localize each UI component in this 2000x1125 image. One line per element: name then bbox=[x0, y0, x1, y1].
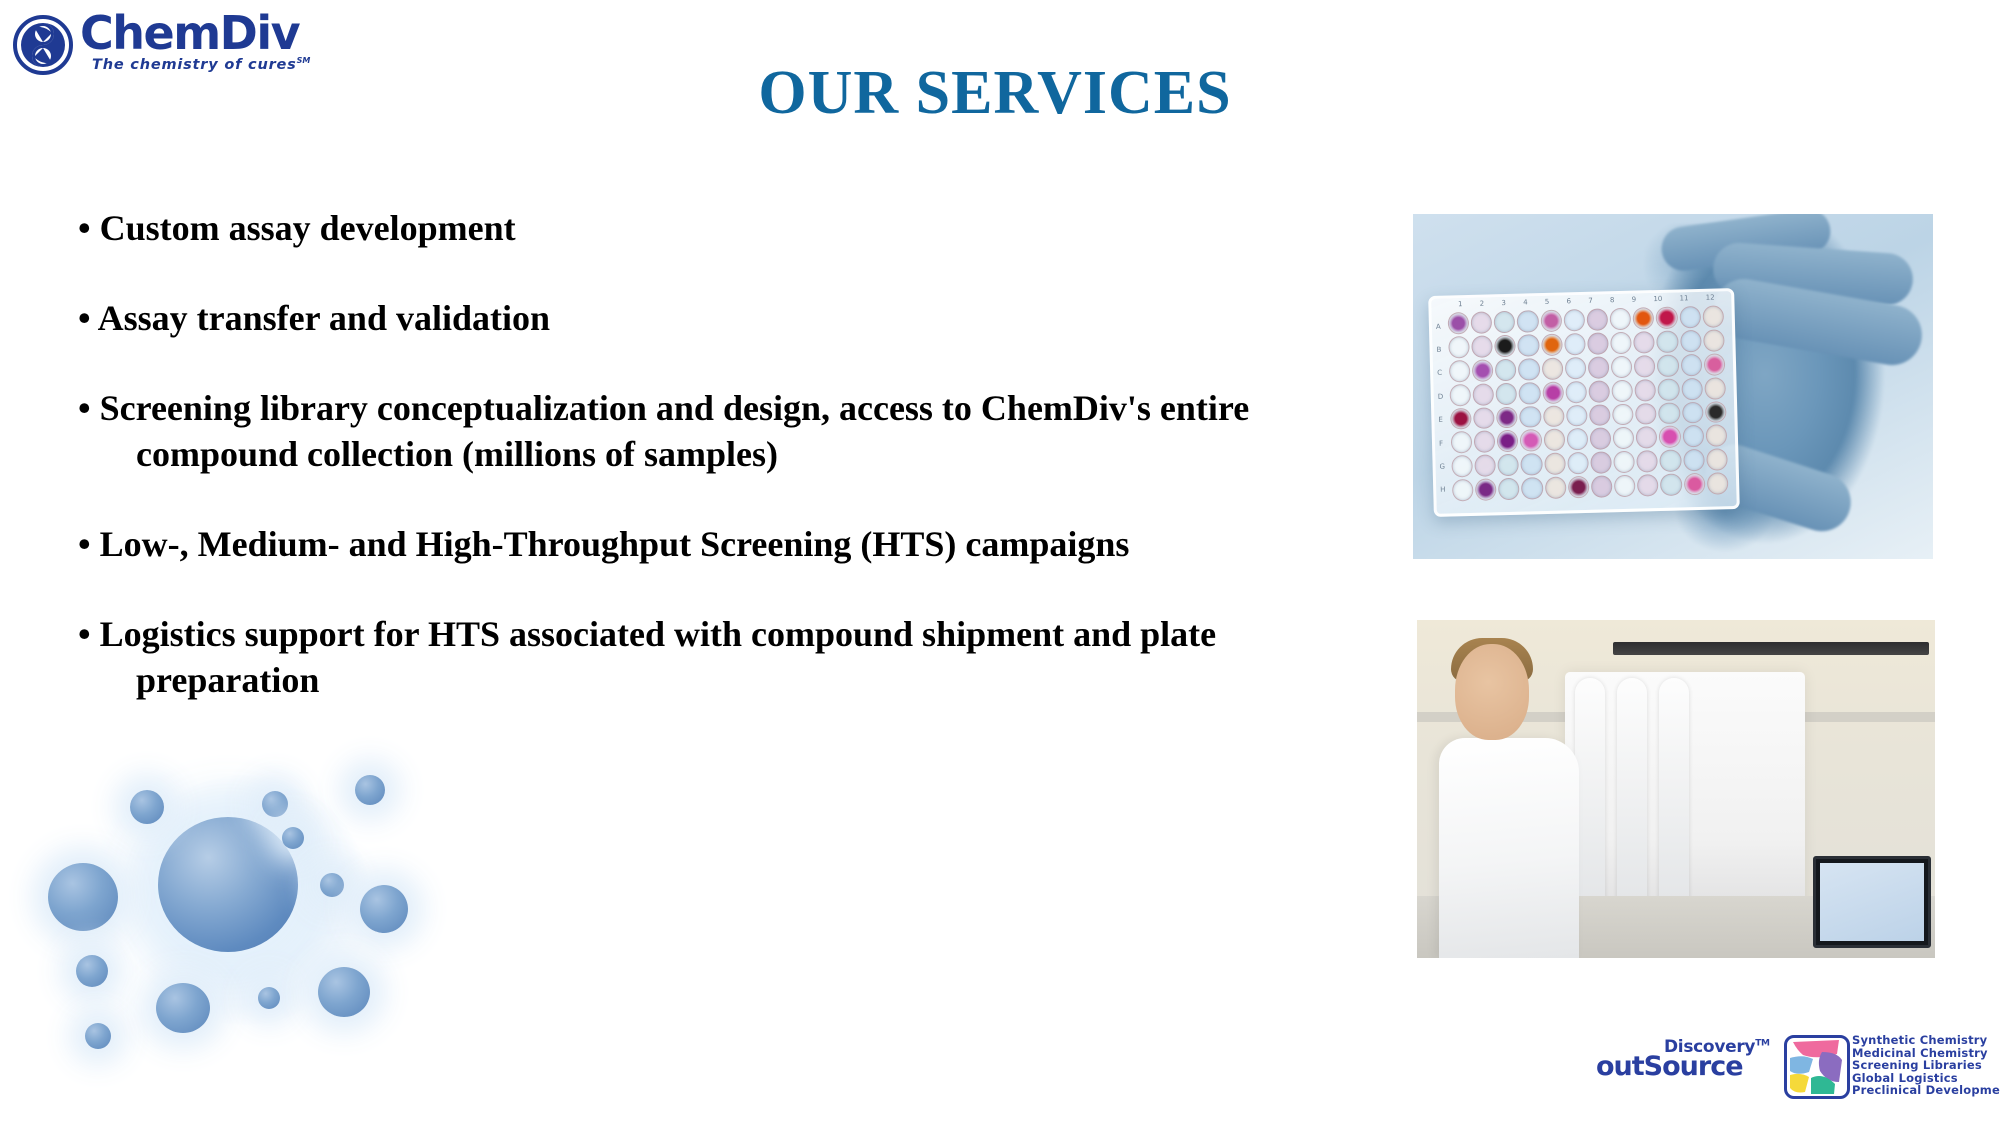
microplate-well bbox=[1634, 355, 1656, 377]
cell-satellite bbox=[48, 863, 118, 931]
microplate-well bbox=[1471, 335, 1493, 357]
microplate-row-label: F bbox=[1439, 439, 1445, 447]
microplate-well bbox=[1704, 353, 1726, 375]
microplate-well bbox=[1542, 381, 1564, 403]
microplate-well bbox=[1541, 333, 1563, 355]
microplate-column-label: 3 bbox=[1501, 299, 1506, 307]
microplate-well bbox=[1610, 332, 1632, 354]
list-item: • Screening library conceptualization an… bbox=[78, 385, 1328, 477]
partner-service-item: Preclinical Development bbox=[1852, 1084, 2000, 1097]
microplate-body: 123456789101112 ABCDEFGH bbox=[1428, 288, 1740, 517]
microplate-well bbox=[1587, 308, 1609, 330]
page-title: OUR SERVICES bbox=[0, 58, 2000, 129]
microplate-well bbox=[1705, 401, 1727, 423]
microplate-well bbox=[1498, 454, 1520, 476]
cell-satellite bbox=[130, 790, 164, 824]
microplate-column-label: 12 bbox=[1706, 294, 1715, 302]
microplate-column-label: 11 bbox=[1679, 294, 1688, 302]
microplate-well bbox=[1589, 404, 1611, 426]
microplate-well bbox=[1449, 360, 1471, 382]
cell-cluster-graphic bbox=[30, 755, 450, 1115]
microplate-well bbox=[1518, 334, 1540, 356]
microplate-photo: 123456789101112 ABCDEFGH bbox=[1413, 214, 1933, 559]
microplate-well bbox=[1637, 450, 1659, 472]
microplate-column-label: 10 bbox=[1653, 295, 1662, 303]
microplate-well bbox=[1637, 474, 1659, 496]
discovery-tm: TM bbox=[1755, 1038, 1770, 1048]
microplate-well bbox=[1565, 357, 1587, 379]
microplate-well bbox=[1684, 473, 1706, 495]
microplate-well bbox=[1519, 382, 1541, 404]
microplate-well bbox=[1475, 478, 1497, 500]
partner-service-item: Synthetic Chemistry bbox=[1852, 1034, 2000, 1047]
outsource-word: outSource bbox=[1596, 1051, 1743, 1082]
microplate-well bbox=[1612, 379, 1634, 401]
microplate-well bbox=[1520, 430, 1542, 452]
slide-canvas: ChemDiv The chemistry of curesSM OUR SER… bbox=[0, 0, 2000, 1125]
microplate-column-label: 9 bbox=[1632, 296, 1637, 304]
microplate-well bbox=[1703, 329, 1725, 351]
list-item: • Assay transfer and validation bbox=[78, 295, 1328, 341]
microplate-well bbox=[1473, 383, 1495, 405]
microplate-well bbox=[1705, 425, 1727, 447]
microplate-well bbox=[1564, 333, 1586, 355]
list-item-label: Assay transfer and validation bbox=[98, 298, 550, 338]
microplate-well bbox=[1683, 449, 1705, 471]
microplate-well bbox=[1588, 380, 1610, 402]
microplate-well bbox=[1633, 331, 1655, 353]
mosaic-shapes bbox=[1787, 1038, 1847, 1096]
microplate-row-label: E bbox=[1438, 416, 1444, 424]
microplate-well bbox=[1704, 377, 1726, 399]
microplate-well bbox=[1521, 477, 1543, 499]
list-item: • Logistics support for HTS associated w… bbox=[78, 611, 1328, 703]
microplate-well bbox=[1657, 330, 1679, 352]
microplate-well bbox=[1590, 452, 1612, 474]
chemdiv-wordmark: ChemDiv bbox=[80, 10, 299, 56]
microplate-row-label: C bbox=[1437, 369, 1443, 377]
cell-satellite bbox=[355, 775, 385, 805]
plate-rack bbox=[1575, 678, 1605, 910]
microplate-well bbox=[1591, 475, 1613, 497]
microplate-well bbox=[1495, 335, 1517, 357]
bullet-marker: • bbox=[78, 524, 91, 564]
cell-satellite bbox=[85, 1023, 111, 1049]
microplate-well bbox=[1452, 479, 1474, 501]
microplate-column-label: 2 bbox=[1480, 300, 1485, 308]
microplate-well bbox=[1702, 305, 1724, 327]
scientist-lab-coat bbox=[1439, 738, 1579, 958]
microplate-well bbox=[1590, 428, 1612, 450]
microplate-well bbox=[1660, 450, 1682, 472]
microplate-well bbox=[1682, 425, 1704, 447]
microplate-column-label: 8 bbox=[1610, 296, 1615, 304]
discovery-outsource-logo[interactable]: DiscoveryTM outSource Synthetic Chemistr… bbox=[1596, 1035, 1996, 1105]
lab-gantry bbox=[1613, 642, 1929, 655]
microplate-well bbox=[1636, 426, 1658, 448]
bullet-marker: • bbox=[78, 298, 91, 338]
microplate-row-label: H bbox=[1440, 486, 1446, 494]
microplate-well bbox=[1543, 429, 1565, 451]
microplate-well bbox=[1680, 330, 1702, 352]
microplate-well bbox=[1706, 449, 1728, 471]
microplate-well-grid bbox=[1448, 305, 1729, 501]
microplate-well bbox=[1681, 378, 1703, 400]
microplate-well bbox=[1449, 384, 1471, 406]
microplate-well bbox=[1471, 311, 1493, 333]
services-bullet-list: • Custom assay development • Assay trans… bbox=[78, 205, 1328, 747]
cell-satellite bbox=[318, 967, 370, 1017]
list-item: • Custom assay development bbox=[78, 205, 1328, 251]
microplate-well bbox=[1658, 378, 1680, 400]
microplate-column-label: 1 bbox=[1458, 300, 1463, 308]
microplate-row-label: D bbox=[1438, 392, 1444, 400]
microplate-well bbox=[1495, 359, 1517, 381]
list-item-label: Logistics support for HTS associated wit… bbox=[100, 614, 1132, 654]
list-item: • Low-, Medium- and High-Throughput Scre… bbox=[78, 521, 1328, 567]
microplate-well bbox=[1707, 472, 1729, 494]
cell-satellite bbox=[360, 885, 408, 933]
microplate-well bbox=[1541, 357, 1563, 379]
cell-satellite bbox=[258, 987, 280, 1009]
plate-rack bbox=[1659, 678, 1689, 910]
microplate-well bbox=[1614, 475, 1636, 497]
microplate-well bbox=[1567, 452, 1589, 474]
microplate-well bbox=[1518, 358, 1540, 380]
page-title-text: OUR SERVICES bbox=[758, 58, 1231, 129]
list-item-label: Low-, Medium- and High-Throughput Screen… bbox=[100, 524, 1130, 564]
cell-satellite bbox=[282, 827, 304, 849]
scientist-face bbox=[1455, 644, 1529, 740]
microplate-row-label: A bbox=[1436, 322, 1442, 330]
microplate-well bbox=[1611, 355, 1633, 377]
microplate-well bbox=[1448, 312, 1470, 334]
microplate-well bbox=[1545, 477, 1567, 499]
microplate-column-label: 5 bbox=[1545, 298, 1550, 306]
microplate-column-label: 7 bbox=[1588, 297, 1593, 305]
microplate-well bbox=[1659, 402, 1681, 424]
microplate-well bbox=[1563, 309, 1585, 331]
microplate-well bbox=[1474, 455, 1496, 477]
bullet-marker: • bbox=[78, 208, 91, 248]
microplate-well bbox=[1498, 478, 1520, 500]
microplate-well bbox=[1635, 379, 1657, 401]
computer-monitor bbox=[1813, 856, 1931, 948]
microplate-well bbox=[1494, 311, 1516, 333]
discovery-outsource-mosaic-icon bbox=[1784, 1035, 1850, 1099]
cell-satellite bbox=[320, 873, 344, 897]
microplate-well bbox=[1679, 306, 1701, 328]
cell-satellite bbox=[76, 955, 108, 987]
microplate-well bbox=[1544, 453, 1566, 475]
partner-services-list: Synthetic Chemistry Medicinal Chemistry … bbox=[1852, 1034, 2000, 1097]
monitor-screen bbox=[1820, 863, 1924, 941]
microplate-well bbox=[1587, 332, 1609, 354]
microplate-well bbox=[1521, 453, 1543, 475]
list-item-label: Custom assay development bbox=[100, 208, 516, 248]
cell-primary bbox=[158, 817, 298, 952]
partner-service-item: Screening Libraries bbox=[1852, 1059, 2000, 1072]
microplate-well bbox=[1657, 354, 1679, 376]
microplate-well bbox=[1660, 474, 1682, 496]
cell-satellite bbox=[262, 791, 288, 817]
microplate-well bbox=[1540, 310, 1562, 332]
microplate-well bbox=[1543, 405, 1565, 427]
microplate-well bbox=[1451, 455, 1473, 477]
microplate-well bbox=[1497, 430, 1519, 452]
lab-scientist-photo bbox=[1417, 620, 1935, 958]
microplate-well bbox=[1610, 308, 1632, 330]
microplate-well bbox=[1496, 406, 1518, 428]
microplate-well bbox=[1474, 431, 1496, 453]
plate-rack bbox=[1617, 678, 1647, 910]
microplate-well bbox=[1473, 407, 1495, 429]
bullet-marker: • bbox=[78, 614, 91, 654]
microplate-column-label: 6 bbox=[1566, 297, 1571, 305]
microplate-well bbox=[1613, 427, 1635, 449]
microplate-well bbox=[1565, 381, 1587, 403]
microplate-well bbox=[1496, 382, 1518, 404]
microplate-well bbox=[1680, 354, 1702, 376]
microplate-well bbox=[1520, 406, 1542, 428]
microplate-well bbox=[1588, 356, 1610, 378]
microplate-well bbox=[1451, 431, 1473, 453]
microplate-row-label: G bbox=[1440, 463, 1446, 471]
microplate-well bbox=[1566, 404, 1588, 426]
bullet-marker: • bbox=[78, 388, 91, 428]
microplate-well bbox=[1612, 403, 1634, 425]
microplate-well bbox=[1568, 476, 1590, 498]
cell-satellite bbox=[156, 983, 210, 1033]
microplate-well bbox=[1659, 426, 1681, 448]
microplate-row-labels: ABCDEFGH bbox=[1436, 315, 1446, 502]
microplate-well bbox=[1472, 359, 1494, 381]
microplate-well bbox=[1613, 451, 1635, 473]
list-item-label: Screening library conceptualization and … bbox=[100, 388, 1151, 428]
microplate-well bbox=[1682, 401, 1704, 423]
microplate-row-label: B bbox=[1436, 346, 1442, 354]
microplate-well bbox=[1448, 336, 1470, 358]
microplate-well bbox=[1567, 428, 1589, 450]
microplate-well bbox=[1635, 403, 1657, 425]
microplate-well bbox=[1633, 307, 1655, 329]
microplate-well bbox=[1656, 307, 1678, 329]
microplate-well bbox=[1450, 407, 1472, 429]
microplate-column-label: 4 bbox=[1523, 298, 1528, 306]
microplate-well bbox=[1517, 310, 1539, 332]
